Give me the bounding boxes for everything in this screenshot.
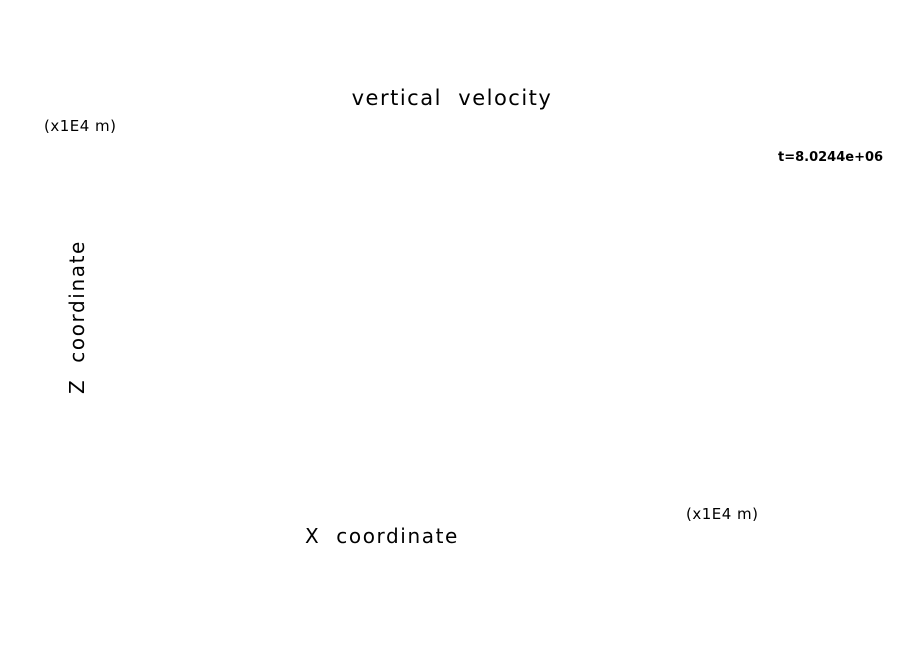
- contour-plot: [0, 0, 904, 654]
- figure-canvas: vertical velocity (x1E4 m) (x1E4 m) X co…: [0, 0, 904, 654]
